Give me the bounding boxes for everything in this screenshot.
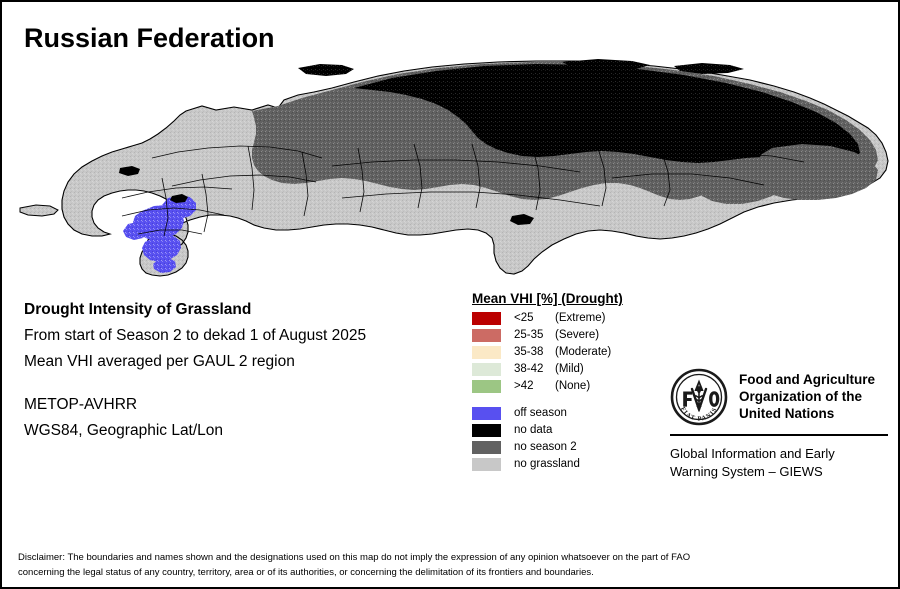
legend-range-none: >42 — [514, 380, 555, 393]
map-legend: Mean VHI [%] (Drought) <25 (Extreme) 25-… — [472, 291, 672, 473]
legend-row-mild[interactable]: 38-42 (Mild) — [472, 361, 672, 378]
map-page: Russian Federation — [0, 0, 900, 589]
info-aggregation: Mean VHI averaged per GAUL 2 region — [24, 349, 444, 375]
legend-label-no-season-2: no season 2 — [514, 441, 577, 454]
giews-subtitle: Global Information and Early Warning Sys… — [670, 445, 888, 481]
legend-row-off-season[interactable]: off season — [472, 405, 672, 422]
fao-divider — [670, 434, 888, 436]
legend-label-no-grassland: no grassland — [514, 458, 580, 471]
legend-row-moderate[interactable]: 35-38 (Moderate) — [472, 344, 672, 361]
fao-name-line-1: Food and Agriculture — [739, 371, 875, 388]
legend-row-no-data[interactable]: no data — [472, 422, 672, 439]
legend-row-severe[interactable]: 25-35 (Severe) — [472, 327, 672, 344]
legend-range-extreme: <25 — [514, 312, 555, 325]
info-heading: Drought Intensity of Grassland — [24, 297, 444, 323]
info-sensor: METOP-AVHRR — [24, 392, 444, 418]
legend-row-none[interactable]: >42 (None) — [472, 378, 672, 395]
legend-label-no-data: no data — [514, 424, 552, 437]
legend-swatch-moderate — [472, 346, 501, 359]
disclaimer-line-2: concerning the legal status of any count… — [18, 565, 878, 580]
legend-swatch-severe — [472, 329, 501, 342]
map-graphic[interactable] — [2, 48, 898, 278]
legend-swatch-extreme — [472, 312, 501, 325]
info-projection: WGS84, Geographic Lat/Lon — [24, 418, 444, 444]
legend-label-off-season: off season — [514, 407, 567, 420]
fao-logo-icon: FIAT PANIS — [670, 368, 728, 426]
disclaimer-line-1: Disclaimer: The boundaries and names sho… — [18, 550, 878, 565]
info-block: Drought Intensity of Grassland From star… — [24, 297, 444, 444]
legend-label-none: (None) — [555, 380, 590, 393]
legend-range-mild: 38-42 — [514, 363, 555, 376]
legend-swatch-none — [472, 380, 501, 393]
legend-range-moderate: 35-38 — [514, 346, 555, 359]
legend-row-no-grassland[interactable]: no grassland — [472, 456, 672, 473]
legend-gap — [472, 395, 672, 405]
fao-name-line-2: Organization of the — [739, 388, 875, 405]
legend-label-moderate: (Moderate) — [555, 346, 611, 359]
legend-swatch-no-season-2 — [472, 441, 501, 454]
legend-row-no-season-2[interactable]: no season 2 — [472, 439, 672, 456]
legend-swatch-no-grassland — [472, 458, 501, 471]
legend-label-severe: (Severe) — [555, 329, 599, 342]
landmass-enclave — [20, 205, 58, 216]
legend-swatch-off-season — [472, 407, 501, 420]
legend-swatch-mild — [472, 363, 501, 376]
giews-line-2: Warning System – GIEWS — [670, 463, 888, 481]
legend-row-extreme[interactable]: <25 (Extreme) — [472, 310, 672, 327]
legend-label-extreme: (Extreme) — [555, 312, 605, 325]
legend-swatch-no-data — [472, 424, 501, 437]
fao-name: Food and Agriculture Organization of the… — [739, 368, 875, 422]
legend-title: Mean VHI [%] (Drought) — [472, 291, 672, 306]
giews-line-1: Global Information and Early — [670, 445, 888, 463]
info-spacer — [24, 375, 444, 392]
disclaimer: Disclaimer: The boundaries and names sho… — [18, 550, 878, 580]
fao-header: FIAT PANIS Food and Agriculture Organiza… — [670, 368, 888, 426]
fao-branding: FIAT PANIS Food and Agriculture Organiza… — [670, 368, 888, 481]
legend-range-severe: 25-35 — [514, 329, 555, 342]
fao-name-line-3: United Nations — [739, 405, 875, 422]
legend-label-mild: (Mild) — [555, 363, 584, 376]
info-period: From start of Season 2 to dekad 1 of Aug… — [24, 323, 444, 349]
